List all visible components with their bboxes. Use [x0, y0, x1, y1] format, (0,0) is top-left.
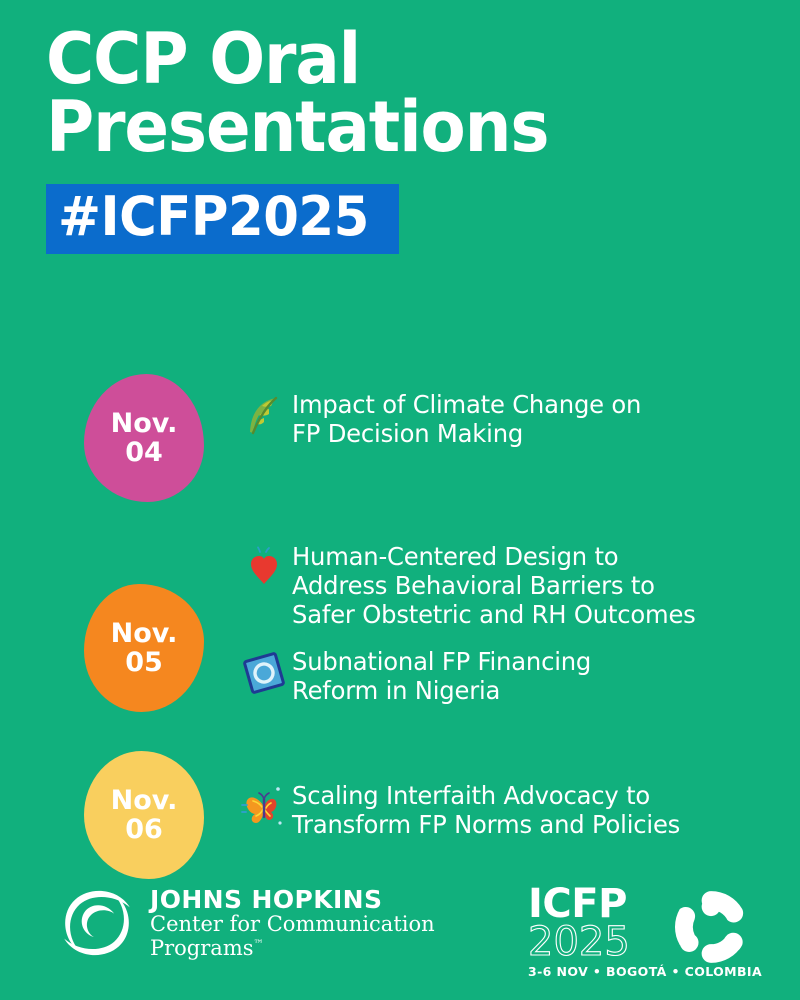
- session-item: Impact of Climate Change on FP Decision …: [240, 390, 780, 448]
- session-title: Impact of Climate Change on FP Decision …: [292, 390, 641, 448]
- trademark-symbol: ™: [254, 939, 264, 950]
- poster-header: CCP Oral Presentations #ICFP2025: [46, 26, 776, 254]
- session-group: Impact of Climate Change on FP Decision …: [240, 368, 800, 454]
- jhu-logo-line3: Programs™: [150, 937, 435, 961]
- session-title: Scaling Interfaith Advocacy to Transform…: [292, 781, 680, 839]
- schedule-day-row: Nov. 04 Impact of Climate Change on FP D…: [0, 368, 800, 536]
- page-title: CCP Oral Presentations: [46, 26, 732, 162]
- jhu-ccp-logo: JOHNS HOPKINS Center for Communication P…: [58, 884, 435, 962]
- butterfly-icon: [240, 783, 292, 831]
- icfp-logo-text: ICFP 2025 3-6 NOV • BOGOTÁ • COLOMBIA: [528, 886, 676, 979]
- session-title: Subnational FP Financing Reform in Niger…: [292, 647, 591, 705]
- session-item: Scaling Interfaith Advocacy to Transform…: [240, 781, 780, 839]
- date-badge-nov-05: Nov. 05: [84, 584, 204, 712]
- session-title: Human-Centered Design to Address Behavio…: [292, 542, 696, 629]
- date-badge-nov-04: Nov. 04: [84, 374, 204, 502]
- session-group: Scaling Interfaith Advocacy to Transform…: [240, 741, 800, 845]
- date-badge-day: 04: [125, 438, 163, 467]
- schedule-day-row: Nov. 06: [0, 741, 800, 891]
- date-badge-month: Nov.: [111, 409, 178, 438]
- date-badge-month: Nov.: [111, 619, 178, 648]
- tropical-leaf-icon: [240, 392, 292, 440]
- icfp-tagline: 3-6 NOV • BOGOTÁ • COLOMBIA: [528, 964, 676, 979]
- jhu-logo-line1: JOHNS HOPKINS: [150, 886, 435, 913]
- jhu-spiral-logo-icon: [58, 884, 136, 962]
- icfp-logo: ICFP 2025 3-6 NOV • BOGOTÁ • COLOMBIA: [528, 886, 768, 978]
- date-badge-day: 05: [125, 648, 163, 677]
- condom-packet-icon: [240, 649, 292, 697]
- session-item: Subnational FP Financing Reform in Niger…: [240, 647, 780, 705]
- schedule-list: Nov. 04 Impact of Climate Change on FP D…: [0, 368, 800, 891]
- date-badge-day: 06: [125, 815, 163, 844]
- jhu-logo-line2: Center for Communication: [150, 913, 435, 937]
- date-badge-nov-06: Nov. 06: [84, 751, 204, 879]
- icfp-year: 2025: [528, 923, 676, 961]
- hashtag-badge: #ICFP2025: [46, 184, 399, 254]
- jhu-logo-line3-text: Programs: [150, 936, 254, 960]
- poster-canvas: CCP Oral Presentations #ICFP2025 Nov. 04: [0, 0, 800, 1000]
- session-item: Human-Centered Design to Address Behavio…: [240, 542, 780, 629]
- session-group: Human-Centered Design to Address Behavio…: [240, 536, 800, 711]
- red-heart-icon: [240, 544, 292, 592]
- date-badge-month: Nov.: [111, 786, 178, 815]
- icfp-people-circle-icon: [672, 888, 750, 966]
- jhu-logo-text: JOHNS HOPKINS Center for Communication P…: [150, 886, 435, 960]
- schedule-day-row: Nov. 05 Human-Centered Design to Address…: [0, 536, 800, 741]
- poster-footer: JOHNS HOPKINS Center for Communication P…: [0, 876, 800, 986]
- icfp-name: ICFP: [528, 886, 676, 923]
- hashtag-label: #ICFP2025: [58, 190, 369, 244]
